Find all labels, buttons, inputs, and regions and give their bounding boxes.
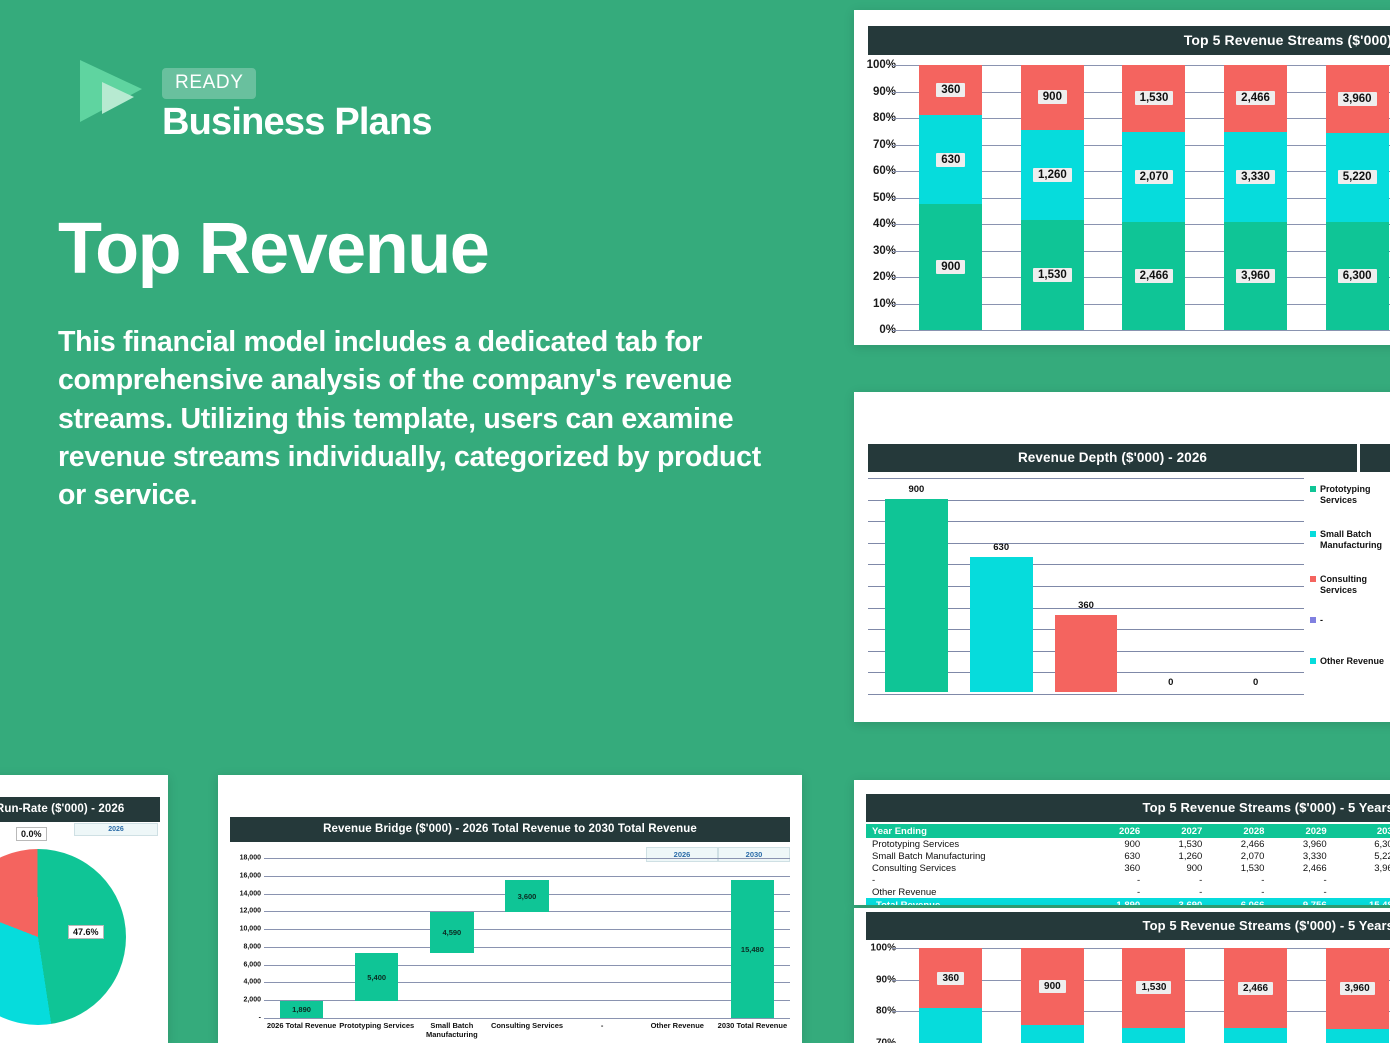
bar-value-label: 900 — [1039, 980, 1066, 993]
bar-segment-prototyping-services: 2,466 — [1122, 222, 1185, 330]
table-cell: 1,530 — [1146, 838, 1208, 850]
bar-value-label: 360 — [936, 83, 965, 97]
bar-value-label: 900 — [885, 484, 948, 495]
bar-value-label: 2,466 — [1135, 269, 1174, 283]
bar-segment-small-batch-manufacturing: 5,220 — [1326, 1029, 1389, 1043]
table-row-label: Small Batch Manufacturing — [866, 850, 1084, 862]
bar-value-label: 630 — [936, 153, 965, 167]
legend-item: Prototyping Services — [1310, 484, 1390, 507]
table-total-cell: 1,890 — [1084, 898, 1146, 905]
bar-segment-consulting-services: 900 — [1021, 65, 1084, 130]
table-cell: 1,530 — [1208, 862, 1270, 874]
bar-value-label: 3,600 — [518, 892, 537, 901]
bar-segment-small-batch-manufacturing: 3,330 — [1224, 132, 1287, 222]
bar-value-label: 360 — [937, 972, 964, 985]
y-tick-label: 12,000 — [240, 908, 261, 915]
table-cell: 3,330 — [1270, 850, 1332, 862]
bar-segment-small-batch-manufacturing: 630 — [919, 1008, 982, 1043]
table-col-header-2029: 2029 — [1270, 824, 1332, 838]
chart-card-top-revenue-streams: Top 5 Revenue Streams ($'000) 0%10%20%30… — [854, 10, 1390, 345]
table-cell: 2,466 — [1208, 838, 1270, 850]
legend-label: Consulting Services — [1320, 574, 1390, 597]
x-tick-label: Consulting Services — [489, 1021, 564, 1039]
y-tick-label: 4,000 — [243, 979, 261, 986]
table-row: ------ — [866, 874, 1390, 886]
bar-value-label: 2,070 — [1135, 170, 1174, 184]
bar-value-label: 1,530 — [1136, 981, 1171, 994]
y-tick-label: 6,000 — [243, 961, 261, 968]
table-title-five-year: Top 5 Revenue Streams ($'000) - 5 Years — [866, 794, 1390, 822]
bar-series-top: 036063090009001,2601,53001,5302,0702,466… — [900, 65, 1390, 330]
bar--: 0 — [1128, 478, 1213, 692]
bar-segment-small-batch-manufacturing: 630 — [919, 115, 982, 203]
table-col-header-label: Year Ending — [866, 824, 1084, 838]
legend-swatch-icon — [1310, 531, 1316, 537]
bar-value-label: 6,300 — [1338, 269, 1377, 283]
pie-slice-label: 47.6% — [68, 925, 104, 939]
bar-value-label: 2,466 — [1236, 91, 1275, 105]
page-description: This financial model includes a dedicate… — [58, 323, 770, 515]
bar-value-label: 1,530 — [1135, 91, 1174, 105]
table-row-label: Prototyping Services — [866, 838, 1084, 850]
table-col-header-2030: 2030 — [1333, 824, 1390, 838]
stacked-percent-chart-bottom: 70%80%90%100% 036063090009001,2601,53001… — [854, 948, 1390, 1043]
five-year-revenue-table: Year Ending20262027202820292030 Prototyp… — [866, 824, 1390, 905]
chart-title-revenue-bridge: Revenue Bridge ($'000) - 2026 Total Reve… — [230, 817, 790, 842]
bar-group-2026: 0360630900 — [900, 65, 1002, 330]
bar-value-label: 3,330 — [1236, 170, 1275, 184]
legend-swatch-icon — [1310, 576, 1316, 582]
bars-revenue-bridge: 1,8905,4004,5903,60015,480 — [264, 858, 790, 1018]
bar-value-label: 2,466 — [1238, 982, 1273, 995]
y-axis-labels-revenue-bridge: -2,0004,0006,0008,00010,00012,00014,0001… — [230, 858, 264, 1018]
table-total-row: Total Revenue1,8903,6906,0669,75615,480 — [866, 898, 1390, 905]
legend-item: - — [1310, 615, 1323, 626]
bar-value-label: 0 — [1224, 677, 1287, 688]
bar-group-2028: 01,5302,0702,466 — [1103, 65, 1205, 330]
bar-value-label: 0 — [1139, 677, 1202, 688]
legend-revenue-depth: Prototyping ServicesSmall Batch Manufact… — [1304, 478, 1390, 694]
table-total-label: Total Revenue — [866, 898, 1084, 905]
bar-value-label: 360 — [1055, 600, 1118, 611]
waterfall-bar-consulting-services: 3,600 — [489, 858, 564, 1018]
bars-revenue-depth: 90063036000 — [874, 478, 1298, 692]
bar-value-label: 4,590 — [442, 928, 461, 937]
chart-title-revenue-depth: Revenue Depth ($'000) - 2026 — [868, 444, 1357, 472]
title-bar-end-cap — [1360, 444, 1390, 472]
table-cell: 3,960 — [1270, 838, 1332, 850]
waterfall-bar-2030-total-revenue: 15,480 — [715, 858, 790, 1018]
table-total-cell: 15,480 — [1333, 898, 1390, 905]
bar-group-2029: 02,4663,3303,960 — [1205, 948, 1307, 1043]
legend-swatch-icon — [1310, 658, 1316, 664]
table-cell: 900 — [1146, 862, 1208, 874]
bar-segment-small-batch-manufacturing: 5,220 — [1326, 133, 1389, 222]
bar-segment-consulting-services: 900 — [1021, 948, 1084, 1025]
bar-value-label: 1,890 — [292, 1005, 311, 1014]
bar-segment-consulting-services: 360 — [919, 65, 982, 115]
legend-item: Small Batch Manufacturing — [1310, 529, 1390, 552]
bar-segment-consulting-services: 3,960 — [1326, 948, 1389, 1029]
x-tick-label: 2026 Total Revenue — [264, 1021, 339, 1039]
pie-chart-run-rate: 47.6%33.3%19.0%0.0%0.0% — [0, 849, 126, 1025]
table-cell: 630 — [1084, 850, 1146, 862]
y-tick-label: 10,000 — [240, 926, 261, 933]
brand-name: Business Plans — [162, 103, 432, 143]
chart-card-revenue-bridge: Revenue Bridge ($'000) - 2026 Total Reve… — [218, 775, 802, 1043]
legend-item: Consulting Services — [1310, 574, 1390, 597]
y-tick-label: 2,000 — [243, 997, 261, 1004]
table-cell: 2,070 — [1208, 850, 1270, 862]
table-cell: - — [1084, 874, 1146, 886]
table-col-header-2026: 2026 — [1084, 824, 1146, 838]
table-row-label: Consulting Services — [866, 862, 1084, 874]
waterfall-bar-prototyping-services: 5,400 — [339, 858, 414, 1018]
stacked-percent-chart-top: 0%10%20%30%40%50%60%70%80%90%100% 036063… — [854, 65, 1390, 340]
bar-segment-small-batch-manufacturing: 1,260 — [1021, 1025, 1084, 1043]
table-row: Small Batch Manufacturing6301,2602,0703,… — [866, 850, 1390, 862]
waterfall-bar-2026-total-revenue: 1,890 — [264, 858, 339, 1018]
bar-segment-prototyping-services: 1,530 — [1021, 220, 1084, 330]
table-cell: 1,260 — [1146, 850, 1208, 862]
ready-badge: READY — [162, 68, 256, 99]
table-cell: - — [1146, 874, 1208, 886]
bar-value-label: 3,960 — [1338, 92, 1377, 106]
chart-card-revenue-run-rate: Revenue Run-Rate ($'000) - 2026 2026 47.… — [0, 775, 168, 1043]
x-tick-label: 2030 Total Revenue — [715, 1021, 790, 1039]
chart-card-bottom-revenue-streams: Top 5 Revenue Streams ($'000) - 5 Years … — [854, 908, 1390, 1043]
bar-value-label: 630 — [970, 542, 1033, 553]
brand-logo: READY Business Plans — [72, 52, 432, 143]
y-tick-label: 8,000 — [243, 943, 261, 950]
table-cell: - — [1208, 874, 1270, 886]
bar-series-bottom: 036063090009001,2601,53001,5302,0702,466… — [900, 948, 1390, 1043]
pie-slice-label: 0.0% — [16, 827, 47, 841]
bar-small-batch-manufacturing: 630 — [959, 478, 1044, 692]
bar-segment-consulting-services: 3,960 — [1326, 65, 1389, 133]
bar-group-2029: 02,4663,3303,960 — [1205, 65, 1307, 330]
table-cell: 2,466 — [1270, 862, 1332, 874]
table-cell: - — [1333, 874, 1390, 886]
legend-swatch-icon — [1310, 486, 1316, 492]
table-cell: - — [1146, 886, 1208, 898]
table-row: Other Revenue----- — [866, 886, 1390, 898]
table-row: Prototyping Services9001,5302,4663,9606,… — [866, 838, 1390, 850]
chart-title-stacked-top: Top 5 Revenue Streams ($'000) — [868, 26, 1390, 55]
bar-group-2027: 09001,2601,530 — [1002, 65, 1104, 330]
y-tick-label: 18,000 — [240, 855, 261, 862]
bar-segment-consulting-services: 1,530 — [1122, 65, 1185, 132]
table-row-label: Other Revenue — [866, 886, 1084, 898]
table-total-cell: 3,690 — [1146, 898, 1208, 905]
bar-segment-small-batch-manufacturing: 2,070 — [1122, 1028, 1185, 1043]
bar-group-2030: 03,9605,2206,300 — [1306, 65, 1390, 330]
bar-segment-consulting-services: 2,466 — [1224, 65, 1287, 132]
bar-value-label: 1,530 — [1033, 268, 1072, 282]
table-total-cell: 9,756 — [1270, 898, 1332, 905]
chart-title-revenue-run-rate: Revenue Run-Rate ($'000) - 2026 — [0, 797, 160, 822]
bar-segment-prototyping-services: 900 — [919, 204, 982, 330]
y-tick-label: 14,000 — [240, 890, 261, 897]
chart-title-stacked-bottom: Top 5 Revenue Streams ($'000) - 5 Years — [866, 912, 1390, 940]
table-body: Prototyping Services9001,5302,4663,9606,… — [866, 838, 1390, 905]
x-tick-label: Other Revenue — [640, 1021, 715, 1039]
bar-group-2028: 01,5302,0702,466 — [1103, 948, 1205, 1043]
bar-group-2030: 03,9605,2206,300 — [1306, 948, 1390, 1043]
page-title: Top Revenue — [58, 208, 488, 290]
bar-segment-small-batch-manufacturing: 1,260 — [1021, 130, 1084, 220]
table-cell: 900 — [1084, 838, 1146, 850]
bar-consulting-services: 360 — [1044, 478, 1129, 692]
legend-label: Other Revenue — [1320, 656, 1384, 667]
table-col-header-2028: 2028 — [1208, 824, 1270, 838]
bar-value-label: 900 — [1038, 90, 1067, 104]
table-total-cell: 6,066 — [1208, 898, 1270, 905]
bar-group-2027: 09001,2601,530 — [1002, 948, 1104, 1043]
waterfall-bar-- — [565, 858, 640, 1018]
legend-tab-run-rate: 2026 — [74, 823, 158, 836]
legend-label: Prototyping Services — [1320, 484, 1390, 507]
y-tick-label: - — [259, 1015, 261, 1022]
legend-swatch-icon — [1310, 617, 1316, 623]
table-cell: 360 — [1084, 862, 1146, 874]
chart-card-revenue-depth: Revenue Depth ($'000) - 2026 90063036000… — [854, 392, 1390, 722]
bar-value-label: 5,400 — [367, 973, 386, 982]
bar-value-label: 15,480 — [741, 945, 764, 954]
table-cell: - — [1333, 886, 1390, 898]
bar-value-label: 5,220 — [1338, 170, 1377, 184]
bar-value-label: 3,960 — [1340, 982, 1375, 995]
bar-group-2026: 0360630900 — [900, 948, 1002, 1043]
pie-slices — [0, 849, 126, 1025]
bar-segment-small-batch-manufacturing: 2,070 — [1122, 132, 1185, 222]
legend-label: Small Batch Manufacturing — [1320, 529, 1390, 552]
bar-value-label: 1,260 — [1033, 168, 1072, 182]
table-row: Consulting Services3609001,5302,4663,960 — [866, 862, 1390, 874]
table-cell: 3,960 — [1333, 862, 1390, 874]
x-tick-label: - — [565, 1021, 640, 1039]
waterfall-bar-other-revenue — [640, 858, 715, 1018]
y-tick-label: 16,000 — [240, 872, 261, 879]
bar-segment-consulting-services: 1,530 — [1122, 948, 1185, 1028]
table-card-five-year-revenue: Top 5 Revenue Streams ($'000) - 5 Years … — [854, 780, 1390, 905]
bar-segment-small-batch-manufacturing: 3,330 — [1224, 1028, 1287, 1043]
bar-value-label: 900 — [936, 260, 965, 274]
table-cell: - — [1084, 886, 1146, 898]
bar-segment-consulting-services: 2,466 — [1224, 948, 1287, 1028]
table-cell: - — [1270, 886, 1332, 898]
table-cell: 6,300 — [1333, 838, 1390, 850]
hero-panel: READY Business Plans Top Revenue This fi… — [0, 0, 840, 780]
table-cell: - — [1208, 886, 1270, 898]
table-row-label: - — [866, 874, 1084, 886]
legend-label: - — [1320, 615, 1323, 626]
x-tick-label: Small Batch Manufacturing — [414, 1021, 489, 1039]
y-axis-labels-bottom: 70%80%90%100% — [854, 948, 900, 1043]
legend-item: Other Revenue — [1310, 656, 1384, 667]
bar-segment-prototyping-services: 6,300 — [1326, 222, 1389, 330]
bar-other-revenue: 0 — [1213, 478, 1298, 692]
table-col-header-2027: 2027 — [1146, 824, 1208, 838]
play-triangle-logo-icon — [72, 52, 150, 130]
bar-segment-consulting-services: 360 — [919, 948, 982, 1008]
bar-value-label: 3,960 — [1236, 269, 1275, 283]
table-cell: - — [1270, 874, 1332, 886]
table-cell: 5,220 — [1333, 850, 1390, 862]
x-axis-labels-revenue-bridge: 2026 Total RevenuePrototyping ServicesSm… — [264, 1021, 790, 1039]
waterfall-bar-small-batch-manufacturing: 4,590 — [414, 858, 489, 1018]
x-tick-label: Prototyping Services — [339, 1021, 414, 1039]
bar-prototyping-services: 900 — [874, 478, 959, 692]
bar-segment-prototyping-services: 3,960 — [1224, 222, 1287, 330]
table-header-row: Year Ending20262027202820292030 — [866, 824, 1390, 838]
